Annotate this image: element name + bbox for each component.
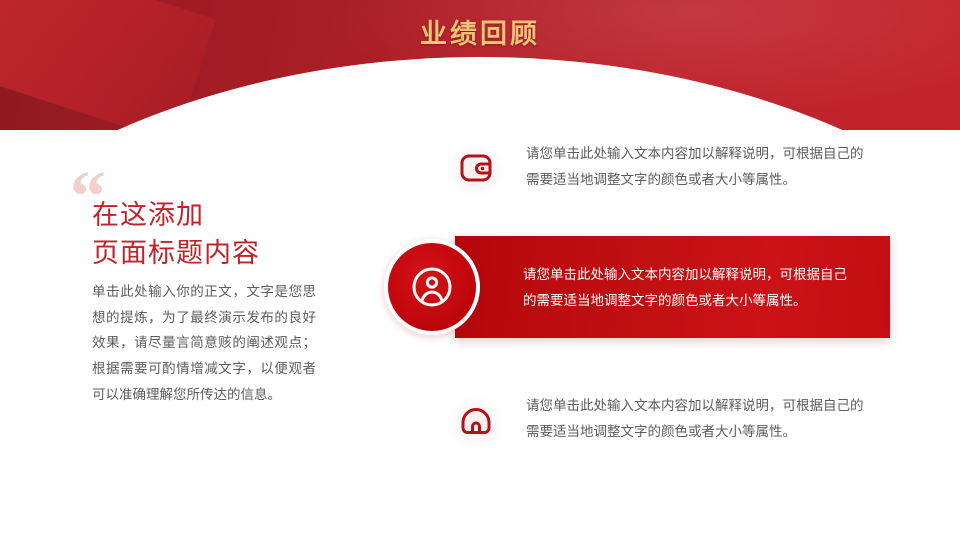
feature-row-2-badge[interactable] (384, 239, 480, 335)
section-heading: 在这添加 页面标题内容 (92, 196, 320, 273)
left-text-block: “ 在这添加 页面标题内容 单击此处输入你的正文，文字是您思想的提炼，为了最终演… (70, 168, 320, 408)
page-title: 业绩回顾 (0, 12, 960, 51)
wallet-icon (448, 140, 504, 196)
section-body-text: 单击此处输入你的正文，文字是您思想的提炼，为了最终演示发布的良好效果，请尽量言简… (92, 279, 316, 409)
section-heading-line-2: 页面标题内容 (92, 234, 320, 272)
feature-row-1[interactable]: 请您单击此处输入文本内容加以解释说明，可根据自己的需要适当地调整文字的颜色或者大… (448, 140, 871, 196)
feature-row-2-text: 请您单击此处输入文本内容加以解释说明，可根据自己的需要适当地调整文字的颜色或者大… (523, 262, 853, 313)
feature-row-1-text: 请您单击此处输入文本内容加以解释说明，可根据自己的需要适当地调整文字的颜色或者大… (526, 141, 871, 192)
feature-row-3[interactable]: 请您单击此处输入文本内容加以解释说明，可根据自己的需要适当地调整文字的颜色或者大… (448, 392, 871, 448)
feature-row-2-banner[interactable]: 请您单击此处输入文本内容加以解释说明，可根据自己的需要适当地调整文字的颜色或者大… (455, 236, 890, 338)
slide-header: 业绩回顾 (0, 0, 960, 130)
user-circle-icon (409, 264, 455, 310)
section-heading-line-1: 在这添加 (92, 200, 204, 230)
home-icon (448, 392, 504, 448)
slide-canvas: 业绩回顾 “ 在这添加 页面标题内容 单击此处输入你的正文，文字是您思想的提炼，… (0, 0, 960, 540)
feature-row-3-text: 请您单击此处输入文本内容加以解释说明，可根据自己的需要适当地调整文字的颜色或者大… (526, 393, 871, 444)
